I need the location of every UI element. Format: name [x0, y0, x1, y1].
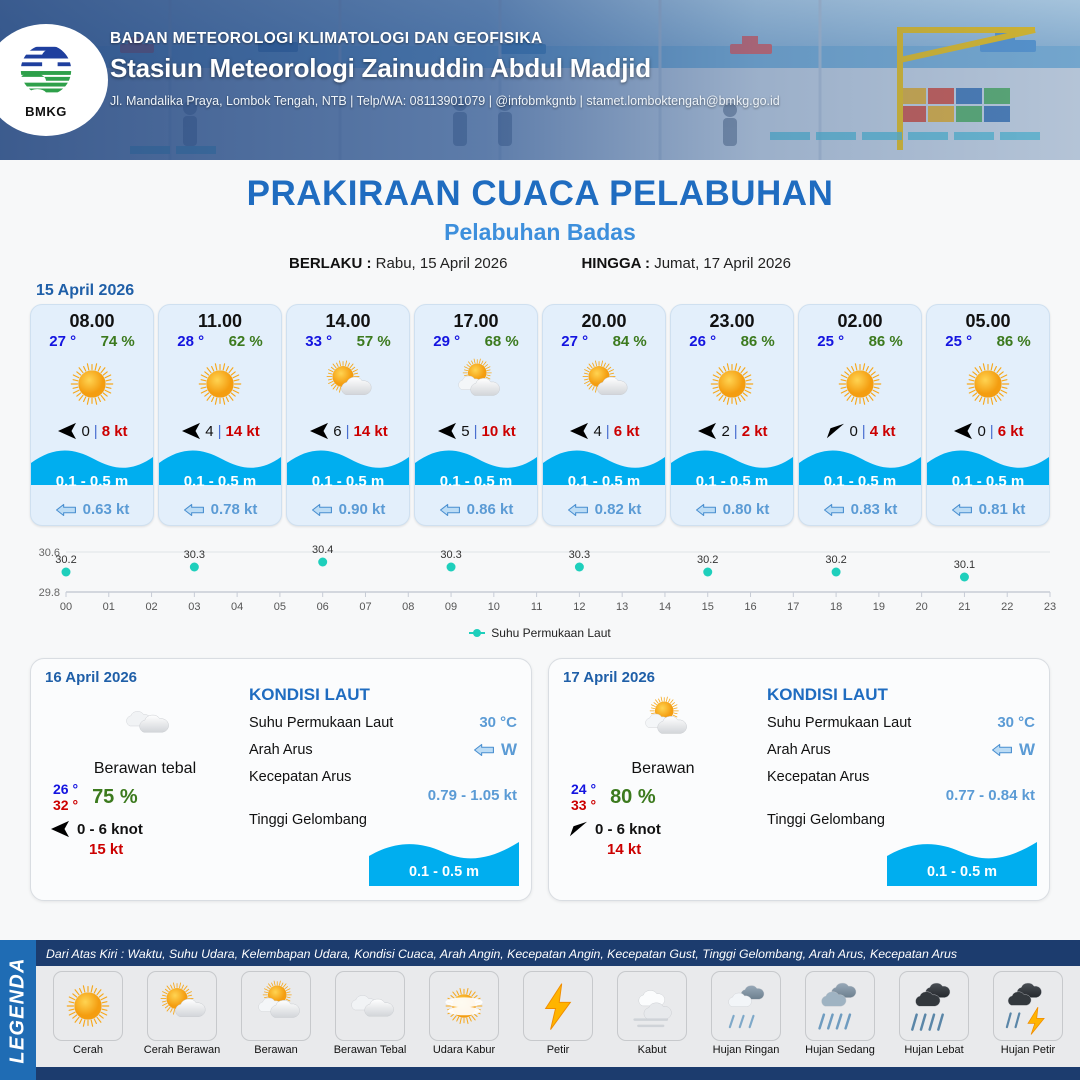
card-wind-direction: 2 — [721, 423, 729, 440]
wind-direction-icon — [56, 422, 78, 440]
svg-text:30.3: 30.3 — [184, 549, 205, 561]
card-wind-row: 0 | 8 kt — [31, 417, 153, 445]
card-wind-direction: 0 — [849, 423, 857, 440]
card-temperature: 28 ° — [177, 333, 204, 350]
current-direction-icon — [991, 743, 1013, 757]
bmkg-emblem-icon — [15, 41, 77, 103]
card-wave-height: 0.1 - 0.5 m — [287, 473, 409, 490]
wind-direction-icon — [308, 422, 330, 440]
card-wind-direction: 0 — [81, 423, 89, 440]
panel-temp-max: 33 ° — [571, 797, 596, 813]
wind-separator: | — [346, 423, 350, 440]
card-current-row: 0.83 kt — [799, 497, 921, 525]
current-direction-icon — [695, 503, 717, 517]
svg-text:20: 20 — [916, 601, 928, 613]
card-temperature: 25 ° — [817, 333, 844, 350]
svg-text:22: 22 — [1001, 601, 1013, 613]
organization-name: BADAN METEOROLOGI KLIMATOLOGI DAN GEOFIS… — [110, 30, 780, 48]
panel-sea-title: KONDISI LAUT — [249, 685, 517, 705]
svg-text:21: 21 — [958, 601, 970, 613]
card-wind-direction: 6 — [333, 423, 341, 440]
title-section: PRAKIRAAN CUACA PELABUHAN Pelabuhan Bada… — [0, 160, 1080, 272]
card-temperature: 26 ° — [689, 333, 716, 350]
svg-text:30.2: 30.2 — [697, 554, 718, 566]
svg-text:30.2: 30.2 — [55, 554, 76, 566]
panel-current-dir-value: W — [1019, 740, 1035, 760]
legend-icon-hujan-sedang — [805, 971, 875, 1041]
card-temperature: 27 ° — [561, 333, 588, 350]
card-wave-section: 0.1 - 0.5 m — [287, 445, 409, 497]
legend-section: LEGENDA Dari Atas Kiri : Waktu, Suhu Uda… — [0, 940, 1080, 1080]
legend-item: Petir — [512, 971, 604, 1056]
svg-text:30.2: 30.2 — [825, 554, 846, 566]
current-direction-icon — [311, 503, 333, 517]
wind-separator: | — [94, 423, 98, 440]
legend-icon-kabut — [617, 971, 687, 1041]
bmkg-logo-text: BMKG — [25, 104, 67, 119]
panel-current-speed-block: Kecepatan Arus 0.79 - 1.05 kt — [249, 769, 517, 804]
legend-item-label: Kabut — [638, 1044, 667, 1056]
panel-wave-value: 0.1 - 0.5 m — [887, 864, 1037, 880]
svg-text:30.3: 30.3 — [569, 549, 590, 561]
legend-item-label: Petir — [547, 1044, 570, 1056]
panel-temp-humidity: 24 ° 33 ° 80 % — [563, 781, 763, 813]
legend-icon-udara-kabur — [429, 971, 499, 1041]
svg-text:14: 14 — [659, 601, 671, 613]
card-temp-humidity: 28 ° 62 % — [159, 333, 281, 351]
card-humidity: 86 % — [869, 333, 903, 350]
card-current-row: 0.80 kt — [671, 497, 793, 525]
legend-body: Dari Atas Kiri : Waktu, Suhu Udara, Kele… — [36, 940, 1080, 1080]
sst-chart-plot: 30.629.800010203040506070809101112131415… — [20, 540, 1060, 620]
panel-wave-label: Tinggi Gelombang — [249, 812, 517, 828]
svg-text:30.1: 30.1 — [954, 559, 975, 571]
legend-item: Hujan Sedang — [794, 971, 886, 1056]
legend-icon-hujan-petir — [993, 971, 1063, 1041]
station-name: Stasiun Meteorologi Zainuddin Abdul Madj… — [110, 53, 780, 84]
panel-wind-row: 0 - 6 knot — [563, 820, 763, 838]
wind-separator: | — [606, 423, 610, 440]
card-time: 11.00 — [159, 305, 281, 333]
panel-condition: Berawan tebal — [45, 760, 245, 778]
card-temp-humidity: 27 ° 84 % — [543, 333, 665, 351]
sst-chart-legend: Suhu Permukaan Laut — [20, 626, 1060, 640]
panel-weather-icon — [563, 690, 763, 754]
svg-text:13: 13 — [616, 601, 628, 613]
card-current-speed: 0.63 kt — [83, 501, 130, 518]
sst-legend-marker-icon — [469, 628, 485, 638]
card-weather-icon — [415, 351, 537, 417]
card-temperature: 33 ° — [305, 333, 332, 350]
forecast-card: 11.00 28 ° 62 % 4 | 14 kt 0.1 - 0.5 m — [158, 304, 282, 526]
daily-forecast-panels: 16 April 2026 Berawan tebal 26 ° 32 ° 75… — [0, 650, 1080, 901]
panel-current-dir-value-group: W — [991, 740, 1035, 760]
valid-until-value: Jumat, 17 April 2026 — [654, 255, 791, 272]
legend-item-label: Hujan Lebat — [904, 1044, 963, 1056]
sst-legend-label: Suhu Permukaan Laut — [491, 626, 610, 640]
card-wind-direction: 5 — [461, 423, 469, 440]
forecast-card: 08.00 27 ° 74 % 0 | 8 kt 0.1 - 0.5 m — [30, 304, 154, 526]
legend-item-label: Cerah Berawan — [144, 1044, 220, 1056]
card-weather-icon — [671, 351, 793, 417]
legend-item-label: Berawan — [254, 1044, 297, 1056]
svg-text:08: 08 — [402, 601, 414, 613]
panel-sst-row: Suhu Permukaan Laut 30 °C — [249, 714, 517, 731]
legend-vertical-title: LEGENDA — [7, 957, 30, 1063]
svg-text:06: 06 — [317, 601, 329, 613]
card-gust-speed: 6 kt — [614, 423, 640, 440]
wind-direction-icon — [180, 422, 202, 440]
legend-item: Berawan — [230, 971, 322, 1056]
card-wind-row: 4 | 6 kt — [543, 417, 665, 445]
valid-from-value: Rabu, 15 April 2026 — [376, 255, 508, 272]
legend-item-label: Cerah — [73, 1044, 103, 1056]
legend-note: Dari Atas Kiri : Waktu, Suhu Udara, Kele… — [36, 940, 1080, 966]
legend-item-label: Hujan Petir — [1001, 1044, 1055, 1056]
card-wind-row: 6 | 14 kt — [287, 417, 409, 445]
legend-item-label: Udara Kabur — [433, 1044, 495, 1056]
card-time: 23.00 — [671, 305, 793, 333]
daily-forecast-panel: 16 April 2026 Berawan tebal 26 ° 32 ° 75… — [30, 658, 532, 901]
panel-wave-box: 0.1 - 0.5 m — [369, 836, 519, 886]
panel-temp-max: 32 ° — [53, 797, 78, 813]
panel-gust-speed: 15 kt — [45, 841, 245, 858]
valid-until: HINGGA : Jumat, 17 April 2026 — [581, 255, 791, 272]
legend-item-label: Hujan Sedang — [805, 1044, 875, 1056]
card-wave-height: 0.1 - 0.5 m — [159, 473, 281, 490]
legend-item: Hujan Lebat — [888, 971, 980, 1056]
panel-sst-value: 30 °C — [479, 714, 517, 731]
card-humidity: 62 % — [229, 333, 263, 350]
legend-item: Berawan Tebal — [324, 971, 416, 1056]
card-temp-humidity: 26 ° 86 % — [671, 333, 793, 351]
current-direction-icon — [473, 743, 495, 757]
svg-text:15: 15 — [702, 601, 714, 613]
card-humidity: 84 % — [613, 333, 647, 350]
card-humidity: 86 % — [741, 333, 775, 350]
card-time: 05.00 — [927, 305, 1049, 333]
card-gust-speed: 14 kt — [354, 423, 388, 440]
svg-text:17: 17 — [787, 601, 799, 613]
panel-temp-humidity: 26 ° 32 ° 75 % — [45, 781, 245, 813]
card-wave-height: 0.1 - 0.5 m — [671, 473, 793, 490]
sst-chart: 30.629.800010203040506070809101112131415… — [20, 540, 1060, 650]
legend-item-label: Berawan Tebal — [334, 1044, 407, 1056]
forecast-card: 02.00 25 ° 86 % 0 | 4 kt 0.1 - 0.5 m — [798, 304, 922, 526]
card-time: 08.00 — [31, 305, 153, 333]
wind-direction-icon — [49, 820, 71, 838]
card-current-speed: 0.82 kt — [595, 501, 642, 518]
card-temp-humidity: 27 ° 74 % — [31, 333, 153, 351]
svg-text:18: 18 — [830, 601, 842, 613]
valid-from-label: BERLAKU : — [289, 255, 372, 272]
svg-text:09: 09 — [445, 601, 457, 613]
card-weather-icon — [287, 351, 409, 417]
header-text-block: BADAN METEOROLOGI KLIMATOLOGI DAN GEOFIS… — [110, 30, 780, 108]
panel-current-dir-label: Arah Arus — [249, 742, 313, 758]
panel-sea-conditions: KONDISI LAUT Suhu Permukaan Laut 30 °C A… — [245, 669, 517, 888]
page-title: PRAKIRAAN CUACA PELABUHAN — [0, 174, 1080, 214]
card-current-speed: 0.80 kt — [723, 501, 770, 518]
panel-current-speed-value: 0.77 - 0.84 kt — [767, 787, 1035, 804]
port-name: Pelabuhan Badas — [0, 219, 1080, 246]
panel-sst-label: Suhu Permukaan Laut — [767, 715, 911, 731]
card-weather-icon — [543, 351, 665, 417]
panel-temp-column: 24 ° 33 ° — [571, 781, 596, 813]
panel-current-speed-label: Kecepatan Arus — [249, 769, 517, 785]
wind-separator: | — [734, 423, 738, 440]
forecast-card: 20.00 27 ° 84 % 4 | 6 kt 0.1 - 0.5 m — [542, 304, 666, 526]
valid-until-label: HINGGA : — [581, 255, 650, 272]
card-wave-section: 0.1 - 0.5 m — [415, 445, 537, 497]
current-direction-icon — [823, 503, 845, 517]
svg-text:02: 02 — [145, 601, 157, 613]
card-weather-icon — [799, 351, 921, 417]
card-current-speed: 0.81 kt — [979, 501, 1026, 518]
card-current-row: 0.86 kt — [415, 497, 537, 525]
panel-temp-min: 24 ° — [571, 781, 596, 797]
card-current-speed: 0.86 kt — [467, 501, 514, 518]
svg-text:30.4: 30.4 — [312, 544, 333, 556]
wind-direction-icon — [824, 422, 846, 440]
forecast-card: 14.00 33 ° 57 % 6 | 14 kt 0.1 - 0.5 m — [286, 304, 410, 526]
card-wind-row: 5 | 10 kt — [415, 417, 537, 445]
card-current-speed: 0.90 kt — [339, 501, 386, 518]
card-wave-section: 0.1 - 0.5 m — [799, 445, 921, 497]
panel-gust-speed: 14 kt — [563, 841, 763, 858]
panel-current-dir-row: Arah Arus W — [767, 740, 1035, 760]
card-current-row: 0.82 kt — [543, 497, 665, 525]
panel-wind-range: 0 - 6 knot — [77, 821, 143, 838]
legend-icon-cerah-berawan — [147, 971, 217, 1041]
wind-direction-icon — [567, 820, 589, 838]
card-gust-speed: 4 kt — [870, 423, 896, 440]
svg-text:03: 03 — [188, 601, 200, 613]
card-wind-direction: 4 — [593, 423, 601, 440]
legend-item: Udara Kabur — [418, 971, 510, 1056]
legend-item: Kabut — [606, 971, 698, 1056]
card-time: 14.00 — [287, 305, 409, 333]
current-direction-icon — [55, 503, 77, 517]
valid-from: BERLAKU : Rabu, 15 April 2026 — [289, 255, 507, 272]
card-temperature: 29 ° — [433, 333, 460, 350]
card-current-row: 0.63 kt — [31, 497, 153, 525]
panel-date: 17 April 2026 — [563, 669, 763, 686]
card-time: 20.00 — [543, 305, 665, 333]
panel-left: 17 April 2026 Berawan 24 ° 33 ° 80 % 0 -… — [563, 669, 763, 888]
card-wind-direction: 4 — [205, 423, 213, 440]
forecast-card: 17.00 29 ° 68 % 5 | 10 kt 0.1 - 0.5 m — [414, 304, 538, 526]
card-wave-height: 0.1 - 0.5 m — [415, 473, 537, 490]
card-humidity: 74 % — [101, 333, 135, 350]
daily-forecast-panel: 17 April 2026 Berawan 24 ° 33 ° 80 % 0 -… — [548, 658, 1050, 901]
panel-condition: Berawan — [563, 760, 763, 778]
card-current-row: 0.78 kt — [159, 497, 281, 525]
panel-wave-label: Tinggi Gelombang — [767, 812, 1035, 828]
legend-icon-cerah — [53, 971, 123, 1041]
svg-text:30.3: 30.3 — [440, 549, 461, 561]
validity-row: BERLAKU : Rabu, 15 April 2026 HINGGA : J… — [0, 255, 1080, 272]
panel-weather-icon — [45, 690, 245, 754]
legend-icon-hujan-lebat — [899, 971, 969, 1041]
card-weather-icon — [31, 351, 153, 417]
card-current-row: 0.90 kt — [287, 497, 409, 525]
wind-separator: | — [990, 423, 994, 440]
svg-text:12: 12 — [573, 601, 585, 613]
panel-humidity: 80 % — [610, 786, 656, 809]
card-wind-row: 0 | 6 kt — [927, 417, 1049, 445]
panel-sst-row: Suhu Permukaan Laut 30 °C — [767, 714, 1035, 731]
wind-direction-icon — [568, 422, 590, 440]
card-gust-speed: 6 kt — [998, 423, 1024, 440]
card-gust-speed: 8 kt — [102, 423, 128, 440]
card-humidity: 86 % — [997, 333, 1031, 350]
panel-current-speed-block: Kecepatan Arus 0.77 - 0.84 kt — [767, 769, 1035, 804]
wind-direction-icon — [952, 422, 974, 440]
svg-text:19: 19 — [873, 601, 885, 613]
panel-sst-value: 30 °C — [997, 714, 1035, 731]
card-wind-row: 2 | 2 kt — [671, 417, 793, 445]
card-temp-humidity: 33 ° 57 % — [287, 333, 409, 351]
card-humidity: 68 % — [485, 333, 519, 350]
panel-current-dir-value-group: W — [473, 740, 517, 760]
panel-left: 16 April 2026 Berawan tebal 26 ° 32 ° 75… — [45, 669, 245, 888]
card-gust-speed: 2 kt — [742, 423, 768, 440]
card-gust-speed: 14 kt — [226, 423, 260, 440]
card-wind-row: 0 | 4 kt — [799, 417, 921, 445]
card-wave-section: 0.1 - 0.5 m — [927, 445, 1049, 497]
svg-text:07: 07 — [359, 601, 371, 613]
panel-sst-label: Suhu Permukaan Laut — [249, 715, 393, 731]
card-current-row: 0.81 kt — [927, 497, 1049, 525]
svg-text:16: 16 — [744, 601, 756, 613]
current-direction-icon — [439, 503, 461, 517]
card-current-speed: 0.78 kt — [211, 501, 258, 518]
card-wave-section: 0.1 - 0.5 m — [671, 445, 793, 497]
legend-item-label: Hujan Ringan — [713, 1044, 780, 1056]
hourly-forecast-row: 08.00 27 ° 74 % 0 | 8 kt 0.1 - 0.5 m — [0, 304, 1080, 526]
svg-text:10: 10 — [488, 601, 500, 613]
legend-icon-berawan — [241, 971, 311, 1041]
legend-icon-hujan-ringan — [711, 971, 781, 1041]
svg-text:00: 00 — [60, 601, 72, 613]
legend-item: Cerah — [42, 971, 134, 1056]
card-temp-humidity: 25 ° 86 % — [799, 333, 921, 351]
panel-current-speed-label: Kecepatan Arus — [767, 769, 1035, 785]
wind-direction-icon — [696, 422, 718, 440]
wind-separator: | — [474, 423, 478, 440]
panel-wind-range: 0 - 6 knot — [595, 821, 661, 838]
panel-temp-min: 26 ° — [53, 781, 78, 797]
legend-item: Cerah Berawan — [136, 971, 228, 1056]
legend-icon-petir — [523, 971, 593, 1041]
panel-current-speed-value: 0.79 - 1.05 kt — [249, 787, 517, 804]
legend-vertical-bar: LEGENDA — [0, 940, 36, 1080]
card-gust-speed: 10 kt — [482, 423, 516, 440]
current-direction-icon — [951, 503, 973, 517]
current-direction-icon — [183, 503, 205, 517]
card-wave-section: 0.1 - 0.5 m — [543, 445, 665, 497]
current-direction-icon — [567, 503, 589, 517]
wind-separator: | — [218, 423, 222, 440]
card-current-speed: 0.83 kt — [851, 501, 898, 518]
panel-sea-conditions: KONDISI LAUT Suhu Permukaan Laut 30 °C A… — [763, 669, 1035, 888]
card-weather-icon — [927, 351, 1049, 417]
card-time: 02.00 — [799, 305, 921, 333]
forecast-date-label: 15 April 2026 — [36, 282, 1080, 300]
panel-temp-column: 26 ° 32 ° — [53, 781, 78, 813]
card-wave-height: 0.1 - 0.5 m — [543, 473, 665, 490]
wind-direction-icon — [436, 422, 458, 440]
card-time: 17.00 — [415, 305, 537, 333]
card-wave-height: 0.1 - 0.5 m — [927, 473, 1049, 490]
card-wind-direction: 0 — [977, 423, 985, 440]
svg-text:01: 01 — [103, 601, 115, 613]
card-wave-section: 0.1 - 0.5 m — [159, 445, 281, 497]
card-wave-section: 0.1 - 0.5 m — [31, 445, 153, 497]
card-temp-humidity: 29 ° 68 % — [415, 333, 537, 351]
card-wave-height: 0.1 - 0.5 m — [31, 473, 153, 490]
legend-icon-row: Cerah Cerah Berawan Berawan Berawan Teba… — [36, 966, 1080, 1067]
legend-item: Hujan Petir — [982, 971, 1074, 1056]
card-temp-humidity: 25 ° 86 % — [927, 333, 1049, 351]
svg-text:23: 23 — [1044, 601, 1056, 613]
panel-current-dir-label: Arah Arus — [767, 742, 831, 758]
station-contact: Jl. Mandalika Praya, Lombok Tengah, NTB … — [110, 94, 780, 108]
panel-wave-value: 0.1 - 0.5 m — [369, 864, 519, 880]
panel-sea-title: KONDISI LAUT — [767, 685, 1035, 705]
card-temperature: 27 ° — [49, 333, 76, 350]
card-wave-height: 0.1 - 0.5 m — [799, 473, 921, 490]
panel-humidity: 75 % — [92, 786, 138, 809]
panel-date: 16 April 2026 — [45, 669, 245, 686]
forecast-card: 23.00 26 ° 86 % 2 | 2 kt 0.1 - 0.5 m — [670, 304, 794, 526]
legend-item: Hujan Ringan — [700, 971, 792, 1056]
svg-text:05: 05 — [274, 601, 286, 613]
card-temperature: 25 ° — [945, 333, 972, 350]
card-wind-row: 4 | 14 kt — [159, 417, 281, 445]
forecast-card: 05.00 25 ° 86 % 0 | 6 kt 0.1 - 0.5 m — [926, 304, 1050, 526]
svg-text:29.8: 29.8 — [39, 587, 60, 599]
svg-text:11: 11 — [531, 601, 542, 613]
panel-wave-box: 0.1 - 0.5 m — [887, 836, 1037, 886]
panel-current-dir-row: Arah Arus W — [249, 740, 517, 760]
legend-icon-berawan-tebal — [335, 971, 405, 1041]
svg-text:04: 04 — [231, 601, 243, 613]
wind-separator: | — [862, 423, 866, 440]
page-header: BMKG BADAN METEOROLOGI KLIMATOLOGI DAN G… — [0, 0, 1080, 160]
card-humidity: 57 % — [357, 333, 391, 350]
panel-wind-row: 0 - 6 knot — [45, 820, 245, 838]
card-weather-icon — [159, 351, 281, 417]
panel-current-dir-value: W — [501, 740, 517, 760]
